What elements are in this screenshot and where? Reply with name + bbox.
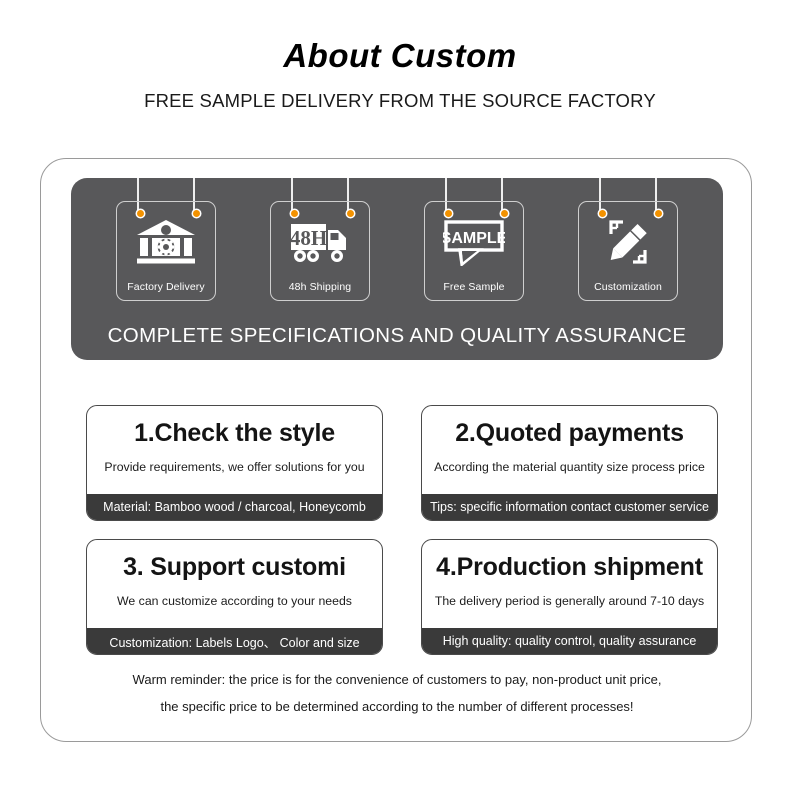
icon-tile: Customization	[578, 201, 678, 301]
step-description: The delivery period is generally around …	[422, 594, 717, 608]
feature-label: Free Sample	[425, 281, 523, 293]
step-card-4[interactable]: 4.Production shipment The delivery perio…	[421, 539, 718, 655]
step-strip: High quality: quality control, quality a…	[422, 628, 717, 654]
hanging-dot-left-icon	[137, 210, 144, 217]
feature-item-free-sample[interactable]: SAMPLE Free Sample	[415, 178, 533, 308]
feature-label: Factory Delivery	[117, 281, 215, 293]
feature-item-customization[interactable]: Customization	[569, 178, 687, 308]
page-header: About Custom FREE SAMPLE DELIVERY FROM T…	[0, 38, 800, 112]
page-title: About Custom	[0, 38, 800, 74]
feature-icon-row: Factory Delivery 48H	[71, 178, 723, 308]
step-strip: Tips: specific information contact custo…	[422, 494, 717, 520]
content-frame: Factory Delivery 48H	[40, 158, 752, 742]
step-description: We can customize according to your needs	[87, 594, 382, 608]
step-description: Provide requirements, we offer solutions…	[87, 460, 382, 474]
feature-item-48h-shipping[interactable]: 48H 48h Shipping	[261, 178, 379, 308]
note-line-2: the specific price to be determined acco…	[41, 694, 753, 721]
svg-text:SAMPLE: SAMPLE	[443, 230, 505, 247]
hanging-dot-left-icon	[445, 210, 452, 217]
step-title: 4.Production shipment	[422, 553, 717, 582]
features-panel: Factory Delivery 48H	[71, 178, 723, 360]
hanging-dot-left-icon	[291, 210, 298, 217]
step-description: According the material quantity size pro…	[422, 460, 717, 474]
feature-label: 48h Shipping	[271, 281, 369, 293]
step-title: 3. Support customi	[87, 553, 382, 582]
step-title: 1.Check the style	[87, 419, 382, 448]
truck-48h-icon: 48H	[289, 218, 351, 266]
step-card-2[interactable]: 2.Quoted payments According the material…	[421, 405, 718, 521]
panel-banner-text: COMPLETE SPECIFICATIONS AND QUALITY ASSU…	[71, 324, 723, 348]
icon-tile: SAMPLE Free Sample	[424, 201, 524, 301]
factory-building-gear-icon	[135, 218, 197, 266]
hanging-dot-right-icon	[501, 210, 508, 217]
steps-grid: 1.Check the style Provide requirements, …	[86, 405, 718, 673]
feature-label: Customization	[579, 281, 677, 293]
about-custom-infographic: About Custom FREE SAMPLE DELIVERY FROM T…	[0, 0, 800, 800]
step-title: 2.Quoted payments	[422, 419, 717, 448]
step-strip: Material: Bamboo wood / charcoal, Honeyc…	[87, 494, 382, 520]
note-line-1: Warm reminder: the price is for the conv…	[41, 667, 753, 694]
hanging-dot-right-icon	[347, 210, 354, 217]
steps-row-1: 1.Check the style Provide requirements, …	[86, 405, 718, 521]
svg-text:48H: 48H	[290, 226, 327, 250]
pencil-ruler-icon	[597, 218, 659, 266]
hanging-dot-left-icon	[599, 210, 606, 217]
step-strip: Customization: Labels Logo、 Color and si…	[87, 628, 382, 654]
feature-item-factory-delivery[interactable]: Factory Delivery	[107, 178, 225, 308]
hanging-dot-right-icon	[655, 210, 662, 217]
step-card-1[interactable]: 1.Check the style Provide requirements, …	[86, 405, 383, 521]
warm-reminder-note: Warm reminder: the price is for the conv…	[41, 667, 753, 720]
sample-speech-bubble-icon: SAMPLE	[443, 218, 505, 266]
icon-tile: Factory Delivery	[116, 201, 216, 301]
hanging-dot-right-icon	[193, 210, 200, 217]
steps-row-2: 3. Support customi We can customize acco…	[86, 539, 718, 655]
page-subtitle: FREE SAMPLE DELIVERY FROM THE SOURCE FAC…	[0, 90, 800, 112]
step-card-3[interactable]: 3. Support customi We can customize acco…	[86, 539, 383, 655]
icon-tile: 48H 48h Shipping	[270, 201, 370, 301]
